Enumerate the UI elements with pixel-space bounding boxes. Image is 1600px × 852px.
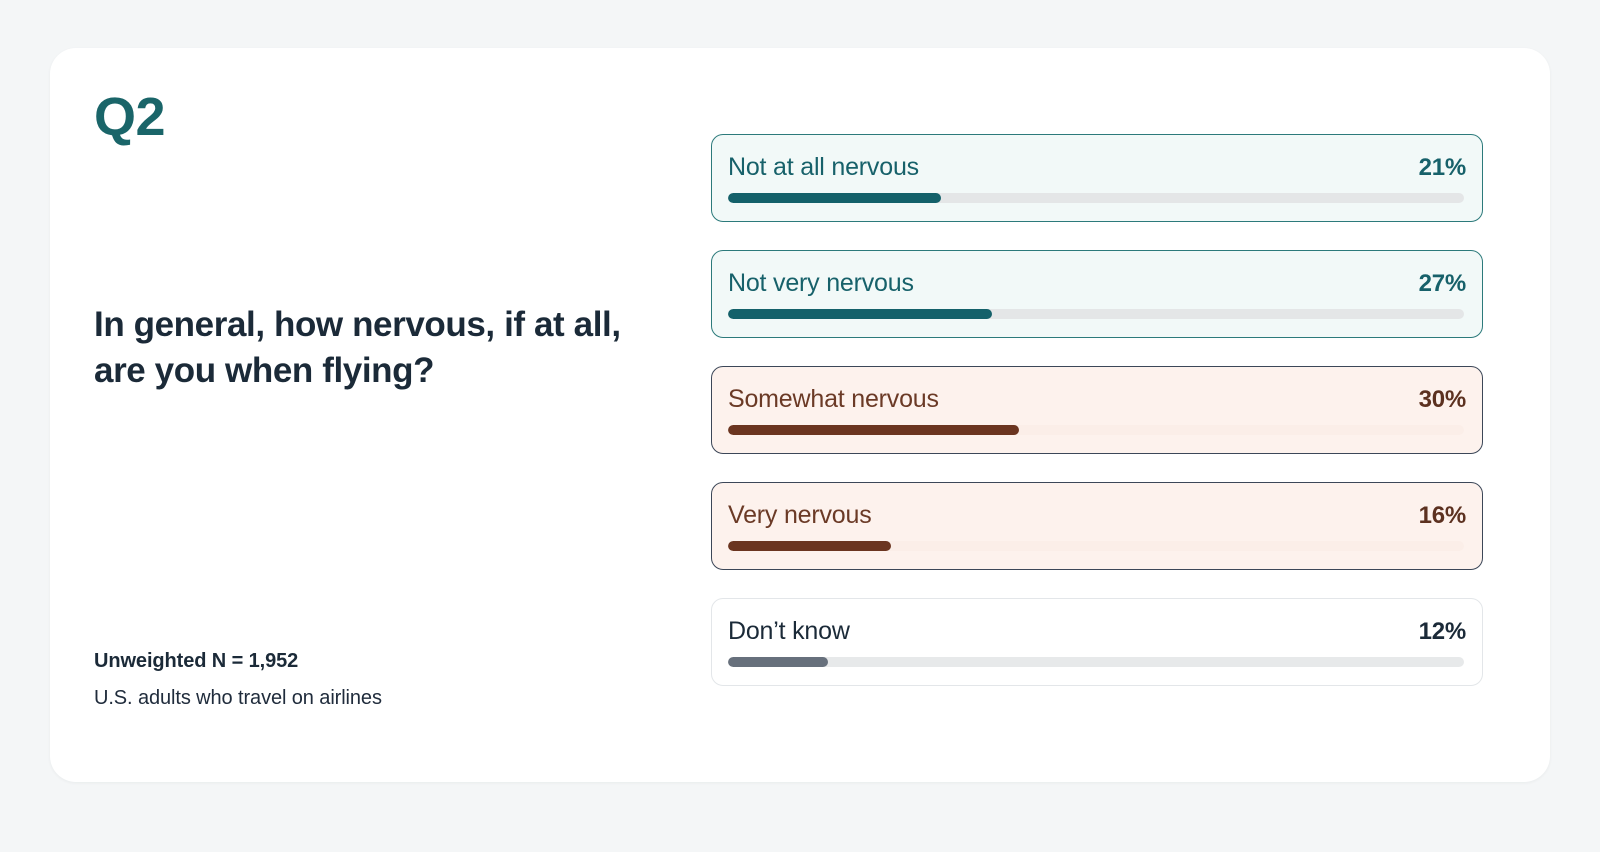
response-percent: 16% <box>1419 502 1466 530</box>
response-row-header: Somewhat nervous 30% <box>728 385 1466 415</box>
bar-fill <box>728 425 1019 435</box>
question-number: Q2 <box>94 90 694 144</box>
bar-track <box>728 541 1464 551</box>
bar-fill <box>728 309 992 319</box>
bar-track <box>728 309 1464 319</box>
response-row-header: Not very nervous 27% <box>728 269 1466 299</box>
response-percent: 27% <box>1419 270 1466 298</box>
response-row: Very nervous 16% <box>711 482 1483 570</box>
response-percent: 21% <box>1419 154 1466 182</box>
response-row-header: Don’t know 12% <box>728 617 1466 647</box>
page-root: Q2 In general, how nervous, if at all, a… <box>0 0 1600 852</box>
bar-fill <box>728 193 941 203</box>
response-label: Not at all nervous <box>728 153 919 182</box>
response-percent: 12% <box>1419 618 1466 646</box>
response-row: Somewhat nervous 30% <box>711 366 1483 454</box>
survey-result-card: Q2 In general, how nervous, if at all, a… <box>50 48 1550 782</box>
response-label: Don’t know <box>728 617 850 646</box>
sample-info: Unweighted N = 1,952 U.S. adults who tra… <box>94 650 654 710</box>
response-row: Don’t know 12% <box>711 598 1483 686</box>
response-row-header: Not at all nervous 21% <box>728 153 1466 183</box>
bar-track <box>728 193 1464 203</box>
bar-fill <box>728 541 891 551</box>
question-title: In general, how nervous, if at all, are … <box>94 302 654 394</box>
response-label: Very nervous <box>728 501 872 530</box>
audience-label: U.S. adults who travel on airlines <box>94 687 654 710</box>
response-percent: 30% <box>1419 386 1466 414</box>
bar-track <box>728 425 1464 435</box>
response-label: Not very nervous <box>728 269 914 298</box>
response-row: Not very nervous 27% <box>711 250 1483 338</box>
bar-track <box>728 657 1464 667</box>
response-bar-list: Not at all nervous 21% Not very nervous … <box>711 134 1483 686</box>
response-row-header: Very nervous 16% <box>728 501 1466 531</box>
unweighted-n-label: Unweighted N = 1,952 <box>94 650 654 673</box>
response-label: Somewhat nervous <box>728 385 939 414</box>
response-row: Not at all nervous 21% <box>711 134 1483 222</box>
question-panel: Q2 In general, how nervous, if at all, a… <box>94 84 694 746</box>
bar-fill <box>728 657 828 667</box>
